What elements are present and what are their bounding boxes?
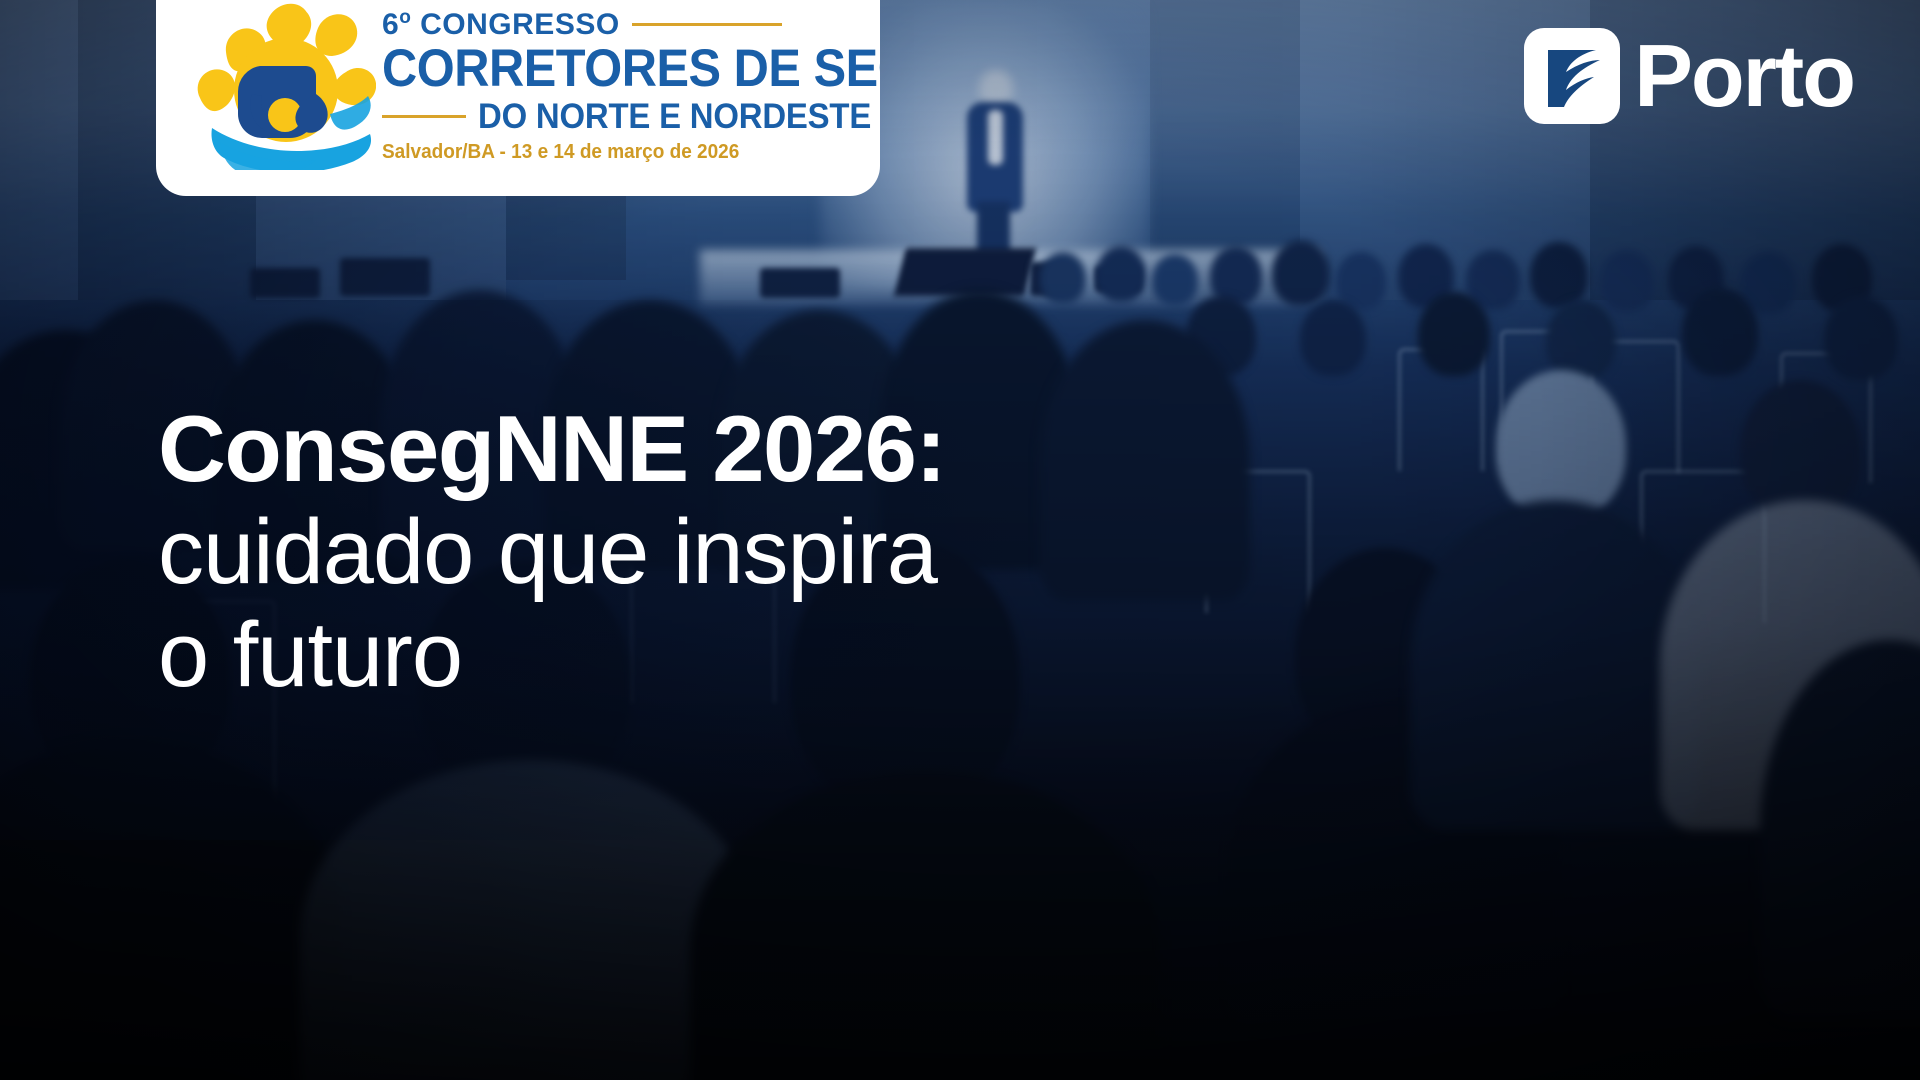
- headline-line-2: cuidado que inspira: [158, 501, 1278, 604]
- congress-date-location: Salvador/BA - 13 e 14 de março de 2026: [382, 142, 880, 162]
- congress-line-3: DO NORTE E NORDESTE: [478, 99, 871, 134]
- congress-line-2: CORRETORES DE SEGUROS: [382, 42, 880, 96]
- gold-rule-bottom: [382, 115, 466, 118]
- headline-line-3: o futuro: [158, 604, 1278, 707]
- congress-wordmark: 6o CONGRESSO CORRETORES DE SEGUROS DO NO…: [382, 8, 880, 163]
- porto-wordmark: Porto: [1634, 36, 1854, 115]
- headline-block: ConsegNNE 2026: cuidado que inspira o fu…: [158, 396, 1278, 707]
- congress-logo-card: 6o CONGRESSO CORRETORES DE SEGUROS DO NO…: [156, 0, 880, 196]
- congress-edition-number: 6: [382, 8, 399, 41]
- congress-line-1: 6o CONGRESSO: [382, 8, 880, 40]
- banner-root: 6o CONGRESSO CORRETORES DE SEGUROS DO NO…: [0, 0, 1920, 1080]
- congress-edition-ordinal: o: [399, 7, 411, 28]
- porto-sail-icon: [1524, 28, 1620, 124]
- headline-line-1: ConsegNNE 2026:: [158, 396, 1278, 501]
- porto-logo: Porto: [1524, 28, 1854, 124]
- gold-rule-top: [632, 23, 782, 26]
- sun-in-hands-icon: [190, 2, 376, 170]
- congress-line-1-text: CONGRESSO: [420, 8, 620, 41]
